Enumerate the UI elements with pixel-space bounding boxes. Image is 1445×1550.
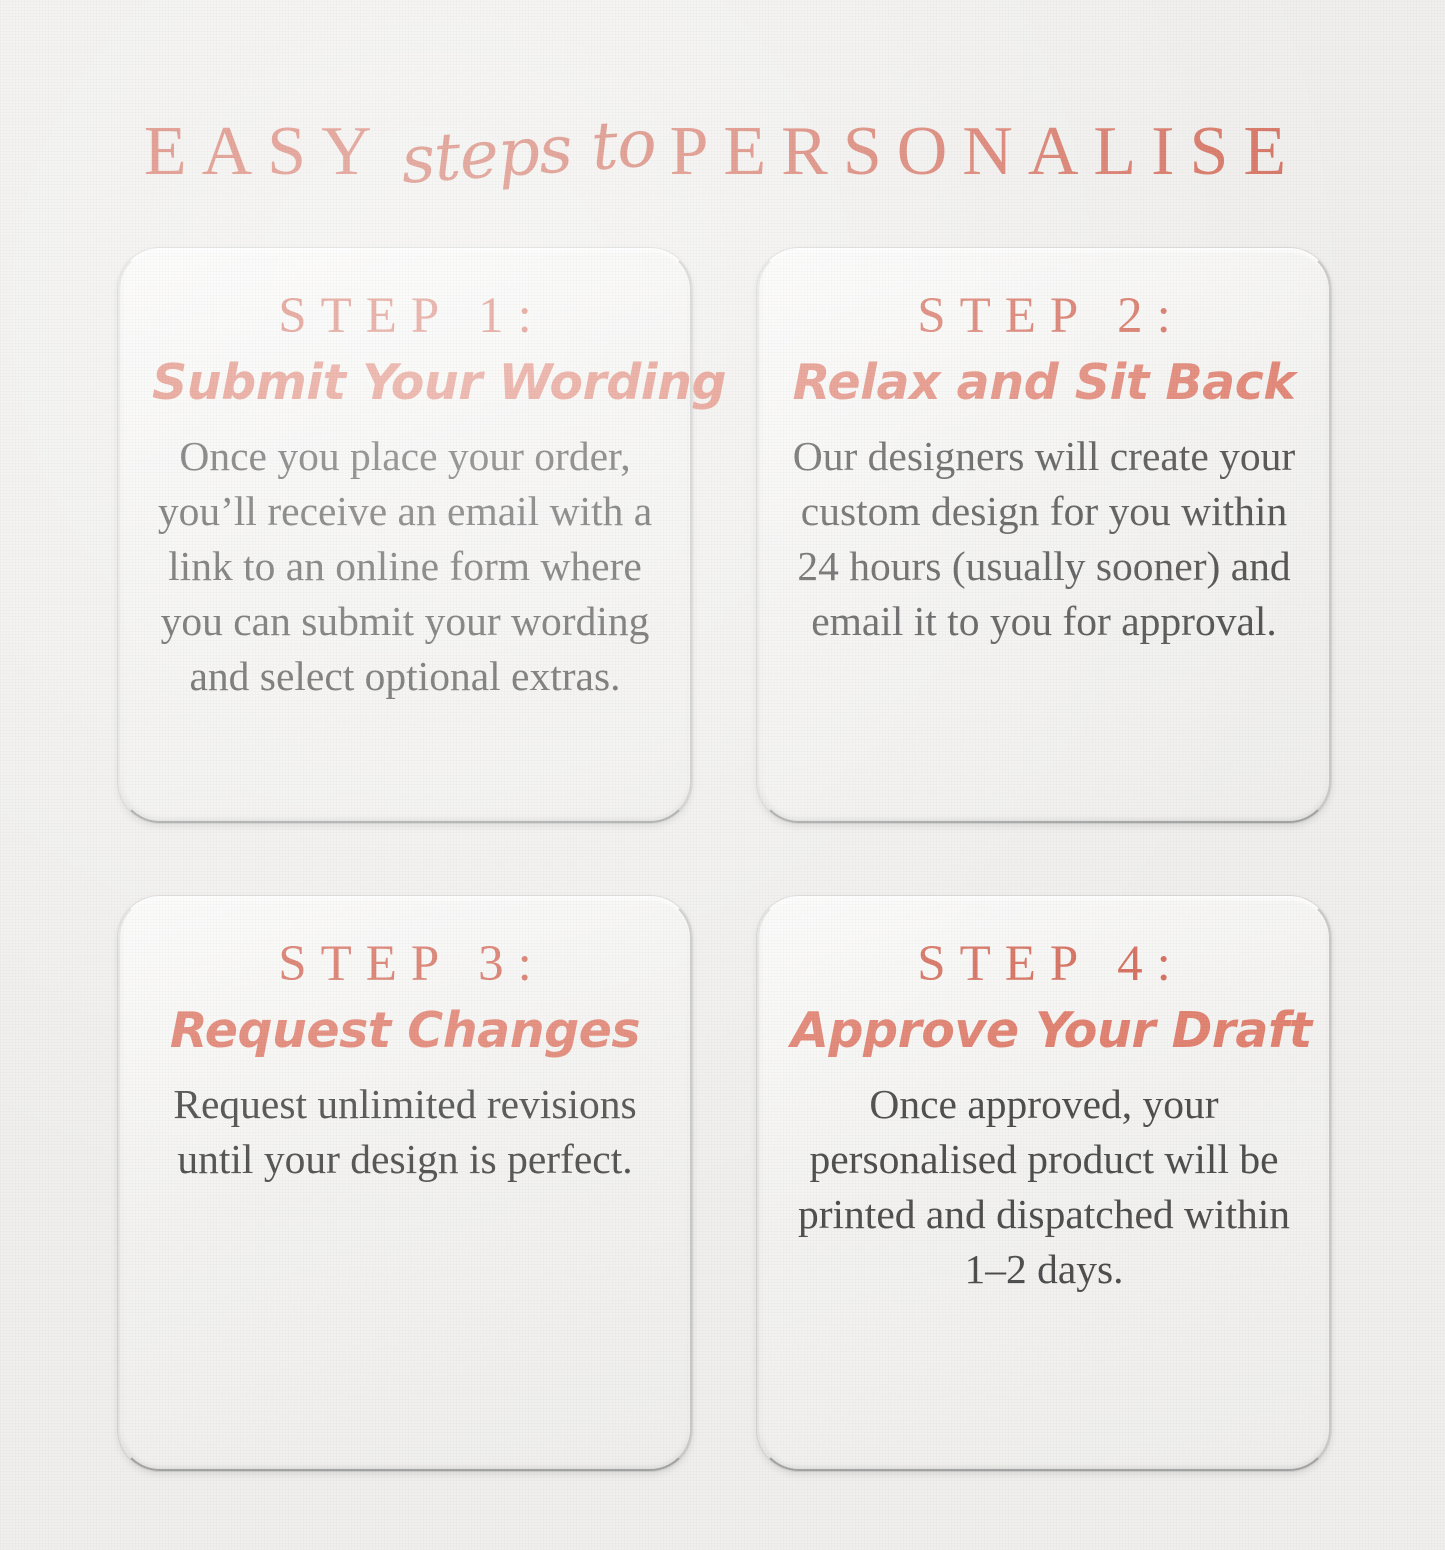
page-title-script-steps-to: steps to <box>384 103 671 200</box>
step-card-1-title: Submit Your Wording <box>152 358 658 407</box>
steps-row-bottom: STEP 3: Request Changes Request unlimite… <box>118 896 1331 1471</box>
step-card-4: STEP 4: Approve Your Draft Once approved… <box>757 896 1331 1471</box>
step-card-4-label: STEP 4: <box>791 938 1297 992</box>
step-card-3-title: Request Changes <box>152 1006 658 1055</box>
step-card-1-label: STEP 1: <box>152 290 658 344</box>
step-card-3: STEP 3: Request Changes Request unlimite… <box>118 896 692 1471</box>
page-title-word-personalise: PERSONALISE <box>669 113 1301 190</box>
page-title-word-easy: EASY <box>144 113 387 190</box>
step-card-4-title: Approve Your Draft <box>791 1006 1297 1055</box>
step-card-2: STEP 2: Relax and Sit Back Our designers… <box>757 248 1331 823</box>
steps-card-grid: STEP 1: Submit Your Wording Once you pla… <box>118 248 1331 1471</box>
step-card-1-body: Once you place your order, you’ll receiv… <box>152 429 658 705</box>
step-card-3-body: Request unlimited revisions until your d… <box>152 1077 658 1187</box>
step-card-2-label: STEP 2: <box>791 290 1297 344</box>
step-card-1: STEP 1: Submit Your Wording Once you pla… <box>118 248 692 823</box>
steps-row-top: STEP 1: Submit Your Wording Once you pla… <box>118 248 1331 823</box>
step-card-4-body: Once approved, your personalised product… <box>791 1077 1297 1298</box>
step-card-2-title: Relax and Sit Back <box>791 358 1297 407</box>
step-card-2-body: Our designers will create your custom de… <box>791 429 1297 650</box>
page-title: EASYsteps toPERSONALISE <box>0 112 1445 192</box>
step-card-3-label: STEP 3: <box>152 938 658 992</box>
